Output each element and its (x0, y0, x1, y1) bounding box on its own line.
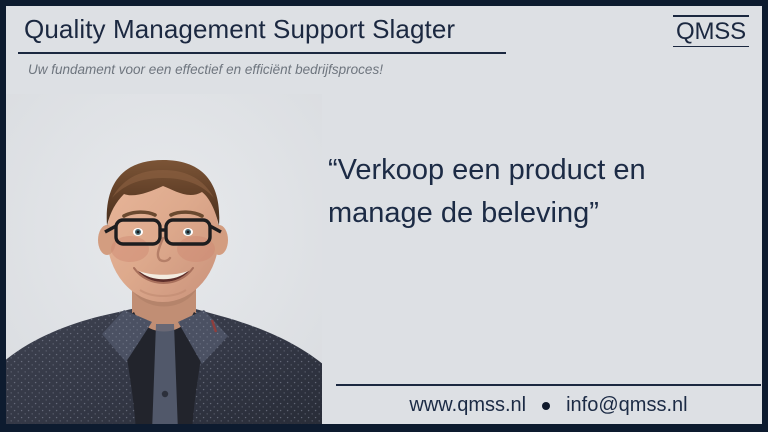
page-title: Quality Management Support Slagter (24, 14, 455, 45)
logo-bottom-rule (673, 46, 749, 48)
tagline: Uw fundament voor een effectief en effic… (28, 62, 383, 77)
separator-dot-icon (542, 402, 550, 410)
brand-logo: QMSS (673, 15, 749, 47)
website-link[interactable]: www.qmss.nl (409, 394, 526, 417)
presentation-slide: Quality Management Support Slagter Uw fu… (0, 0, 768, 432)
portrait-photo (6, 94, 322, 432)
title-divider (18, 52, 506, 54)
footer-divider (336, 384, 761, 386)
logo-text: QMSS (673, 17, 749, 46)
footer-contact: www.qmss.nl info@qmss.nl (336, 394, 761, 417)
quote-line-1: “Verkoop een product en (328, 149, 728, 192)
quote-text: “Verkoop een product en manage de belevi… (328, 149, 728, 235)
email-link[interactable]: info@qmss.nl (566, 394, 687, 417)
quote-line-2: manage de beleving” (328, 192, 728, 235)
